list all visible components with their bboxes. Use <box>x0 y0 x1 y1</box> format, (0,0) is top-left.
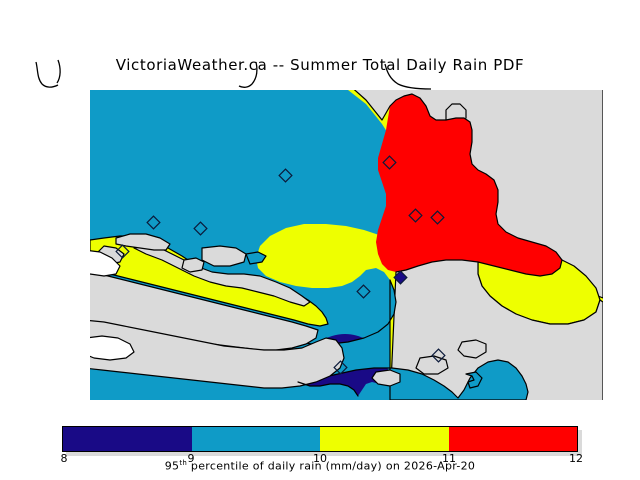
landform-island-southeast-a <box>416 356 448 374</box>
colorbar-band-11-12[interactable] <box>449 427 578 451</box>
chart-title: VictoriaWeather.ca -- Summer Total Daily… <box>0 56 640 74</box>
colorbar-band-8-9[interactable] <box>63 427 192 451</box>
colorbar-caption: 95th percentile of daily rain (mm/day) o… <box>0 459 640 473</box>
caption-prefix: 95 <box>165 460 180 473</box>
caption-superscript: th <box>179 459 187 467</box>
map-plot-area <box>90 90 603 400</box>
colorbar <box>62 426 578 452</box>
caption-rest: percentile of daily rain (mm/day) on 202… <box>187 460 475 473</box>
weather-map-figure: VictoriaWeather.ca -- Summer Total Daily… <box>0 0 640 480</box>
colorbar-bands <box>62 426 578 452</box>
landform-strait-islet <box>182 258 204 272</box>
rainfall-contour-map <box>90 90 603 400</box>
colorbar-band-9-10[interactable] <box>192 427 321 451</box>
colorbar-band-10-11[interactable] <box>320 427 449 451</box>
